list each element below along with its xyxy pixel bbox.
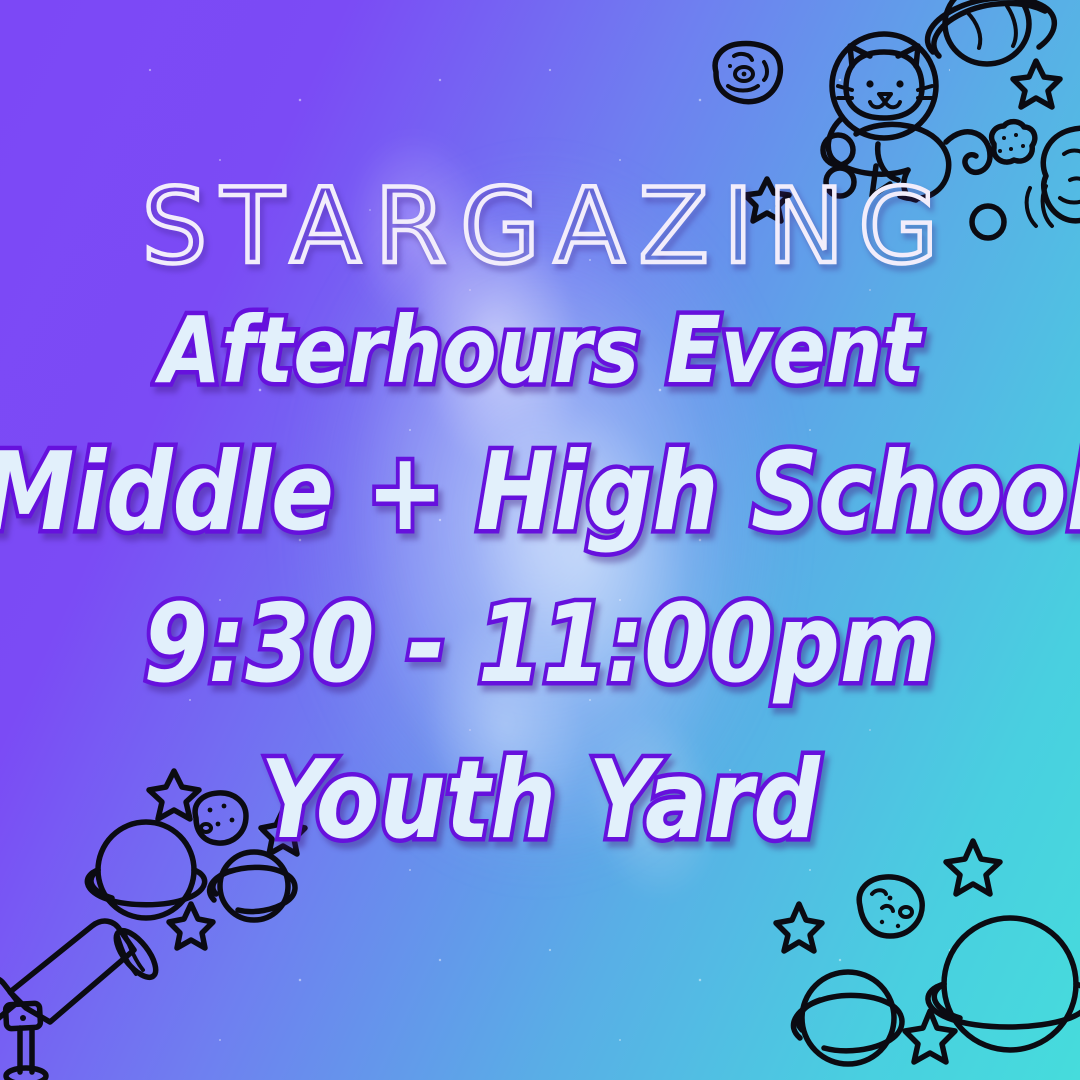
stargazing-event-poster: STARGAZING Afterhours Event Middle + Hig… [0, 0, 1080, 1080]
event-time: 9:30 - 11:00pm [143, 591, 936, 699]
event-subtitle: Afterhours Event [160, 305, 920, 397]
poster-content: STARGAZING Afterhours Event Middle + Hig… [0, 0, 1080, 1080]
event-audience: Middle + High School [0, 439, 1080, 547]
page-title: STARGAZING [128, 176, 952, 279]
event-location: Youth Yard [260, 747, 819, 855]
